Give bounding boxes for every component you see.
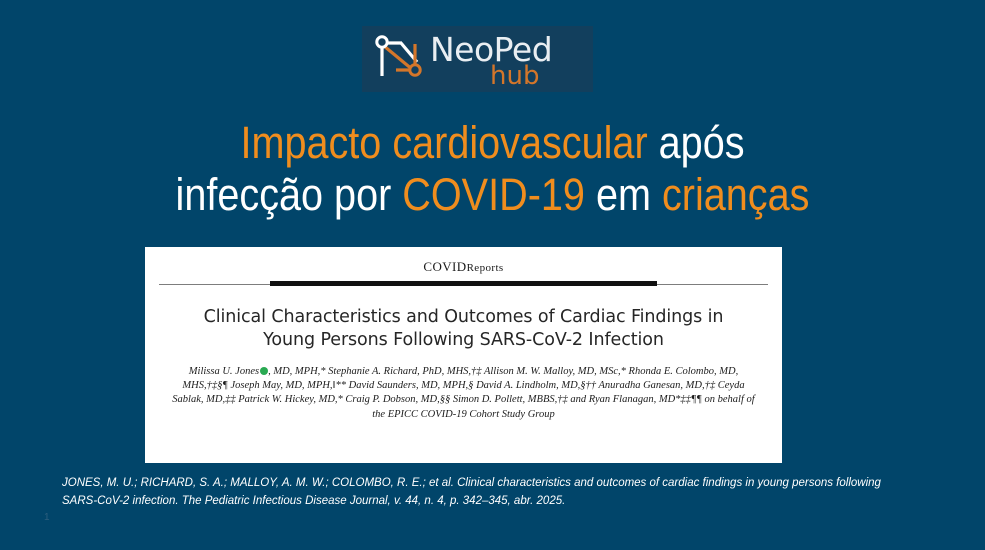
brand-logo-panel: NeoPed hub <box>362 26 593 92</box>
page-title-highlight-1: Impacto cardiovascular <box>240 117 647 168</box>
paper-author-line-1a: Milissa U. Jones <box>189 366 259 377</box>
brand-subtext: hub <box>490 61 539 91</box>
neoped-network-node-icon <box>372 34 428 84</box>
page-title-line-1: Impacto cardiovascular após <box>59 117 926 169</box>
paper-rule-thick <box>270 281 657 286</box>
paper-section-label: COVIDReports <box>145 259 782 275</box>
page-title-plain-3: em <box>585 169 662 220</box>
page-title: Impacto cardiovascular após infecção por… <box>59 117 926 221</box>
paper-author-line-1b: , MD, MPH,* Stephanie A. Richard, PhD, M… <box>268 366 626 377</box>
paper-author-list: Milissa U. Jones, MD, MPH,* Stephanie A.… <box>167 365 760 422</box>
page-title-highlight-3: crianças <box>662 169 809 220</box>
citation-reference: JONES, M. U.; RICHARD, S. A.; MALLOY, A.… <box>62 474 902 510</box>
citation-line-1: JONES, M. U.; RICHARD, S. A.; MALLOY, A.… <box>62 477 754 489</box>
paper-section-label-small: Reports <box>467 262 504 274</box>
orcid-icon <box>260 367 268 375</box>
page-title-highlight-2: COVID-19 <box>402 169 585 220</box>
paper-title: Clinical Characteristics and Outcomes of… <box>171 306 756 352</box>
paper-header-rule <box>145 280 782 290</box>
paper-section-label-main: COVID <box>423 259 466 274</box>
page-number: 1 <box>44 512 50 523</box>
page-title-line-2: infecção por COVID-19 em crianças <box>59 169 926 221</box>
paper-title-line-2: Young Persons Following SARS-CoV-2 Infec… <box>263 330 664 350</box>
paper-screenshot-card: COVIDReports Clinical Characteristics an… <box>145 247 782 463</box>
page-title-plain-2: infecção por <box>176 169 403 220</box>
paper-author-line-4: Patrick W. Hickey, MD,* Craig P. Dobson,… <box>238 394 586 405</box>
page-title-plain-1: após <box>648 117 745 168</box>
paper-title-line-1: Clinical Characteristics and Outcomes of… <box>204 307 724 327</box>
